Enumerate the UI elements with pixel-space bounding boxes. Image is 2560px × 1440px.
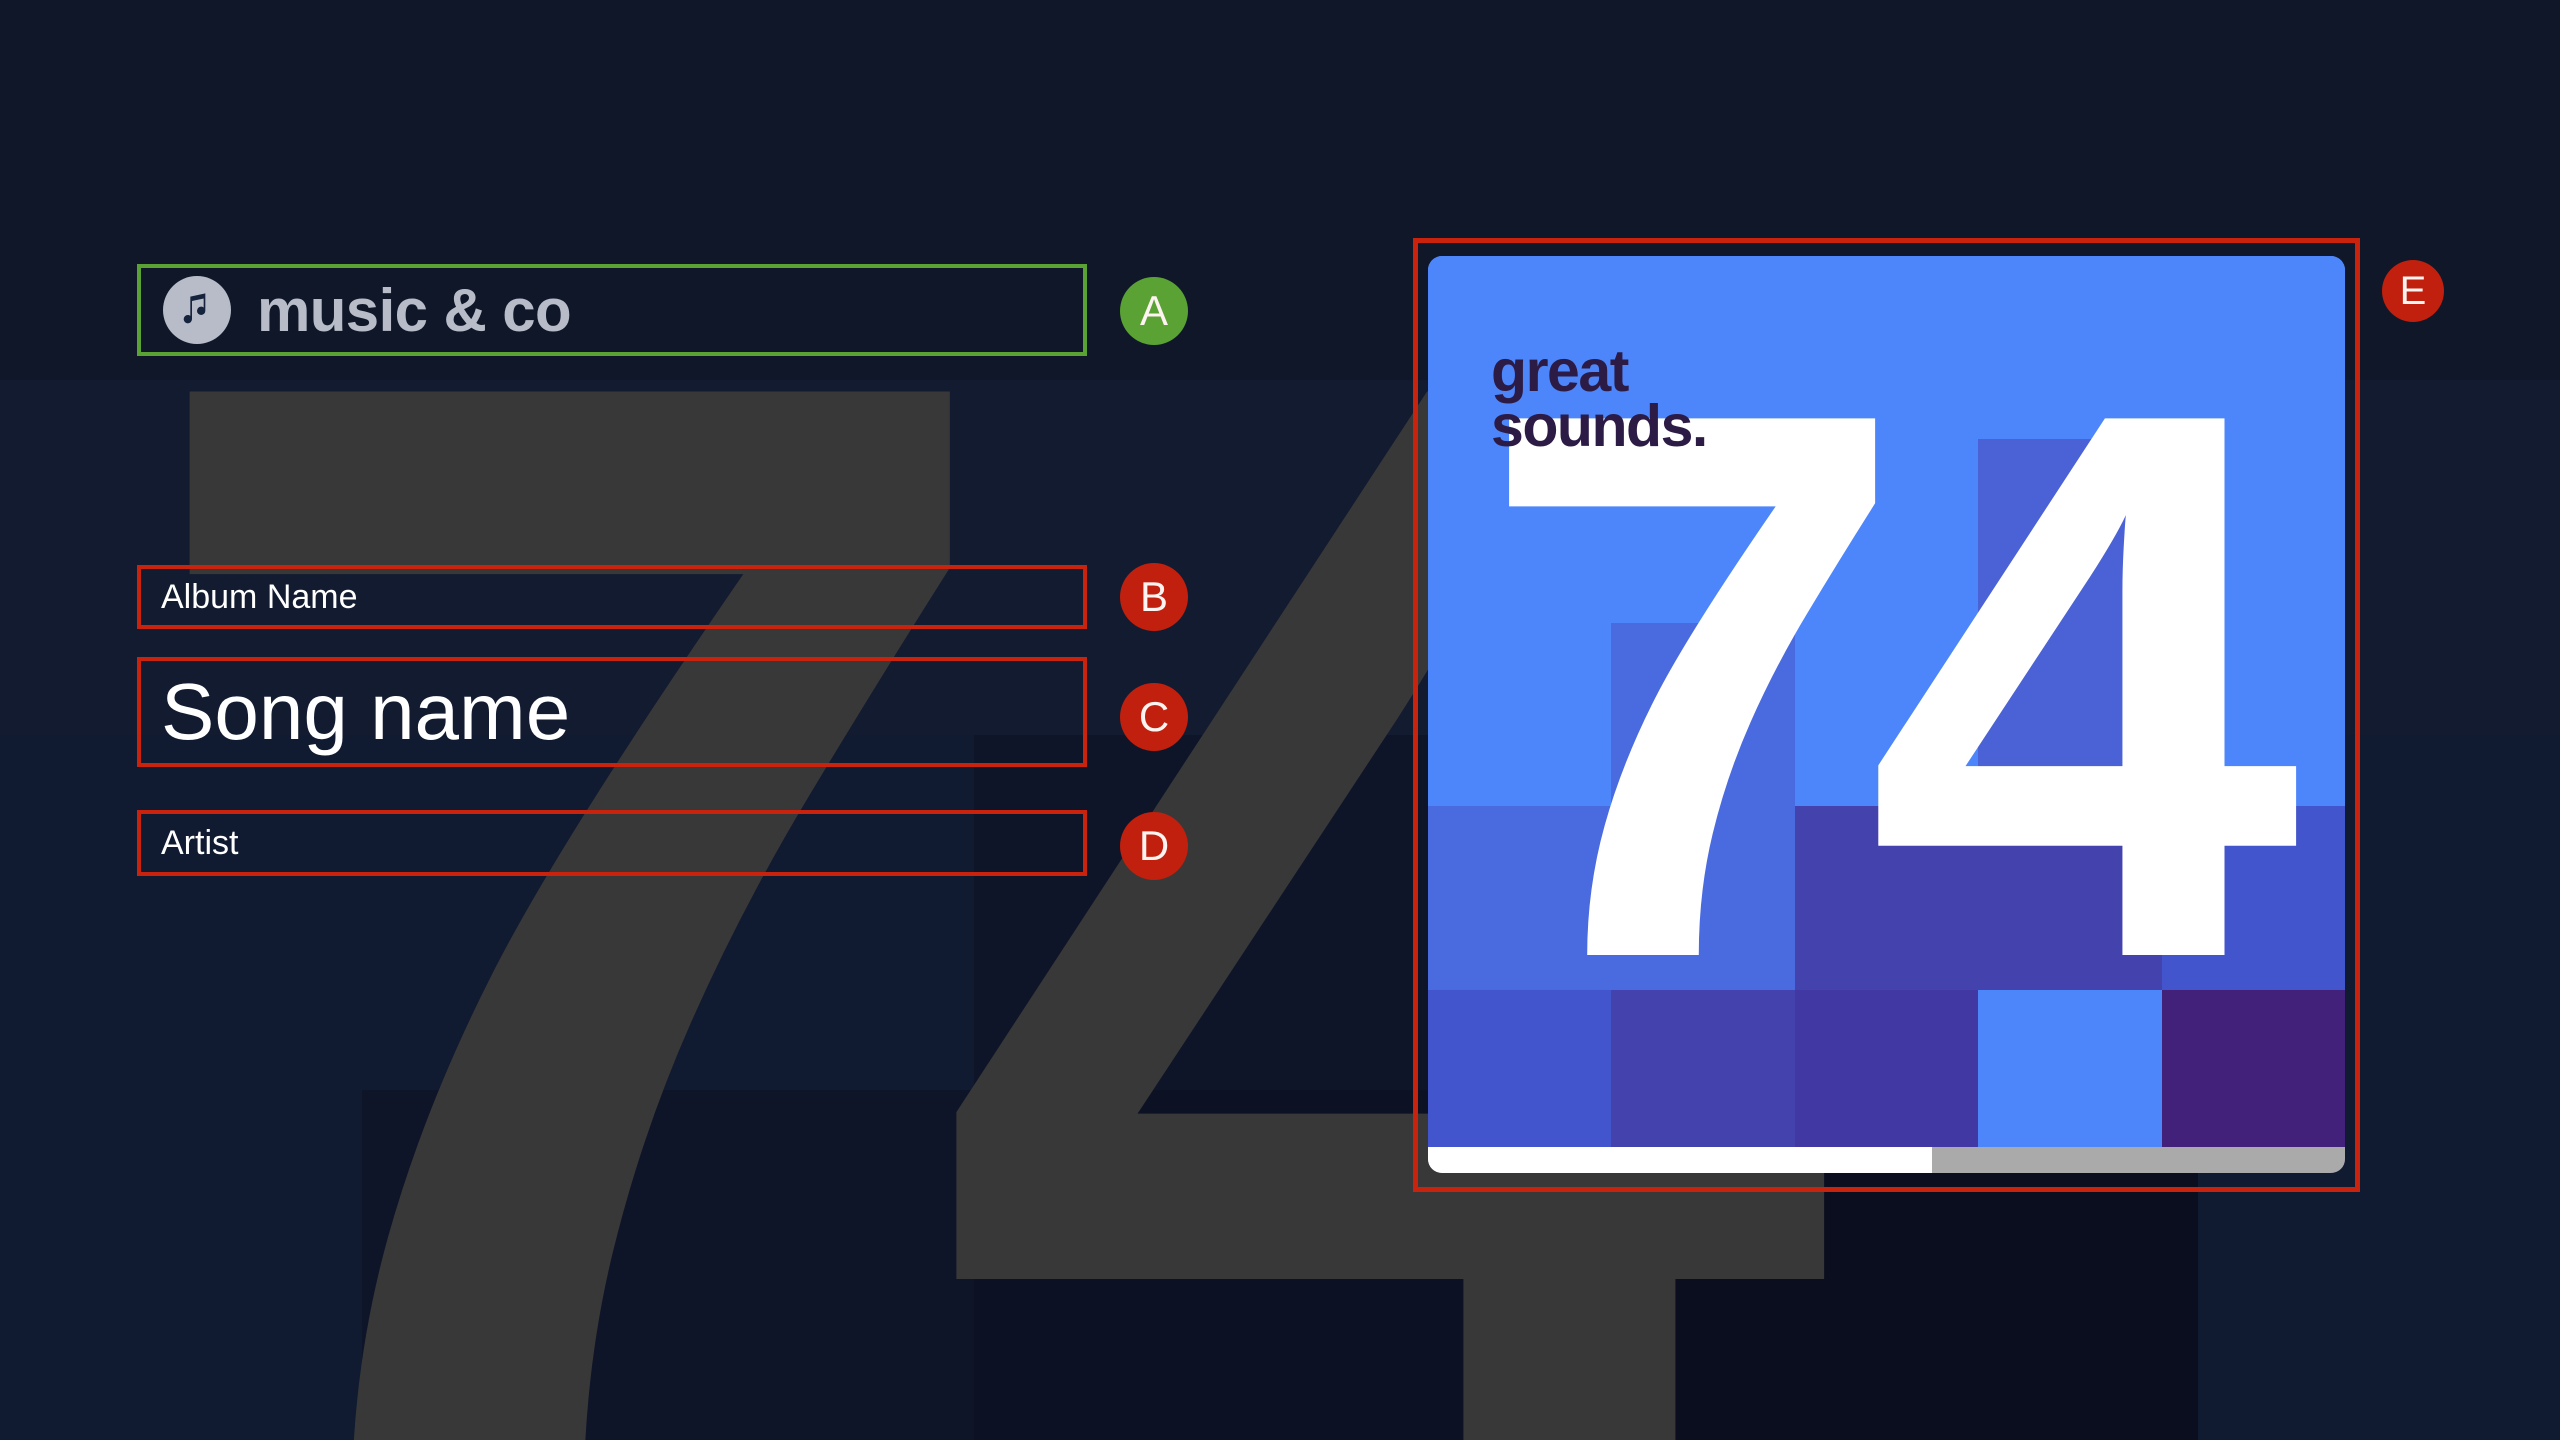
song-name-field[interactable]: Song name bbox=[137, 657, 1087, 767]
artist-name-field[interactable]: Artist bbox=[137, 810, 1087, 876]
album-name-field[interactable]: Album Name bbox=[137, 565, 1087, 629]
artist-name-label: Artist bbox=[161, 824, 238, 863]
brand-header[interactable]: music & co bbox=[137, 264, 1087, 356]
marker-badge-c: C bbox=[1120, 683, 1188, 751]
marker-badge-d: D bbox=[1120, 812, 1188, 880]
album-art-highlight-outline bbox=[1413, 238, 2360, 1192]
marker-badge-b: B bbox=[1120, 563, 1188, 631]
marker-badge-e: E bbox=[2382, 260, 2444, 322]
brand-name-label: music & co bbox=[257, 276, 571, 345]
music-note-icon bbox=[163, 276, 231, 344]
song-name-label: Song name bbox=[161, 672, 570, 752]
album-name-label: Album Name bbox=[161, 578, 358, 617]
marker-badge-a: A bbox=[1120, 277, 1188, 345]
